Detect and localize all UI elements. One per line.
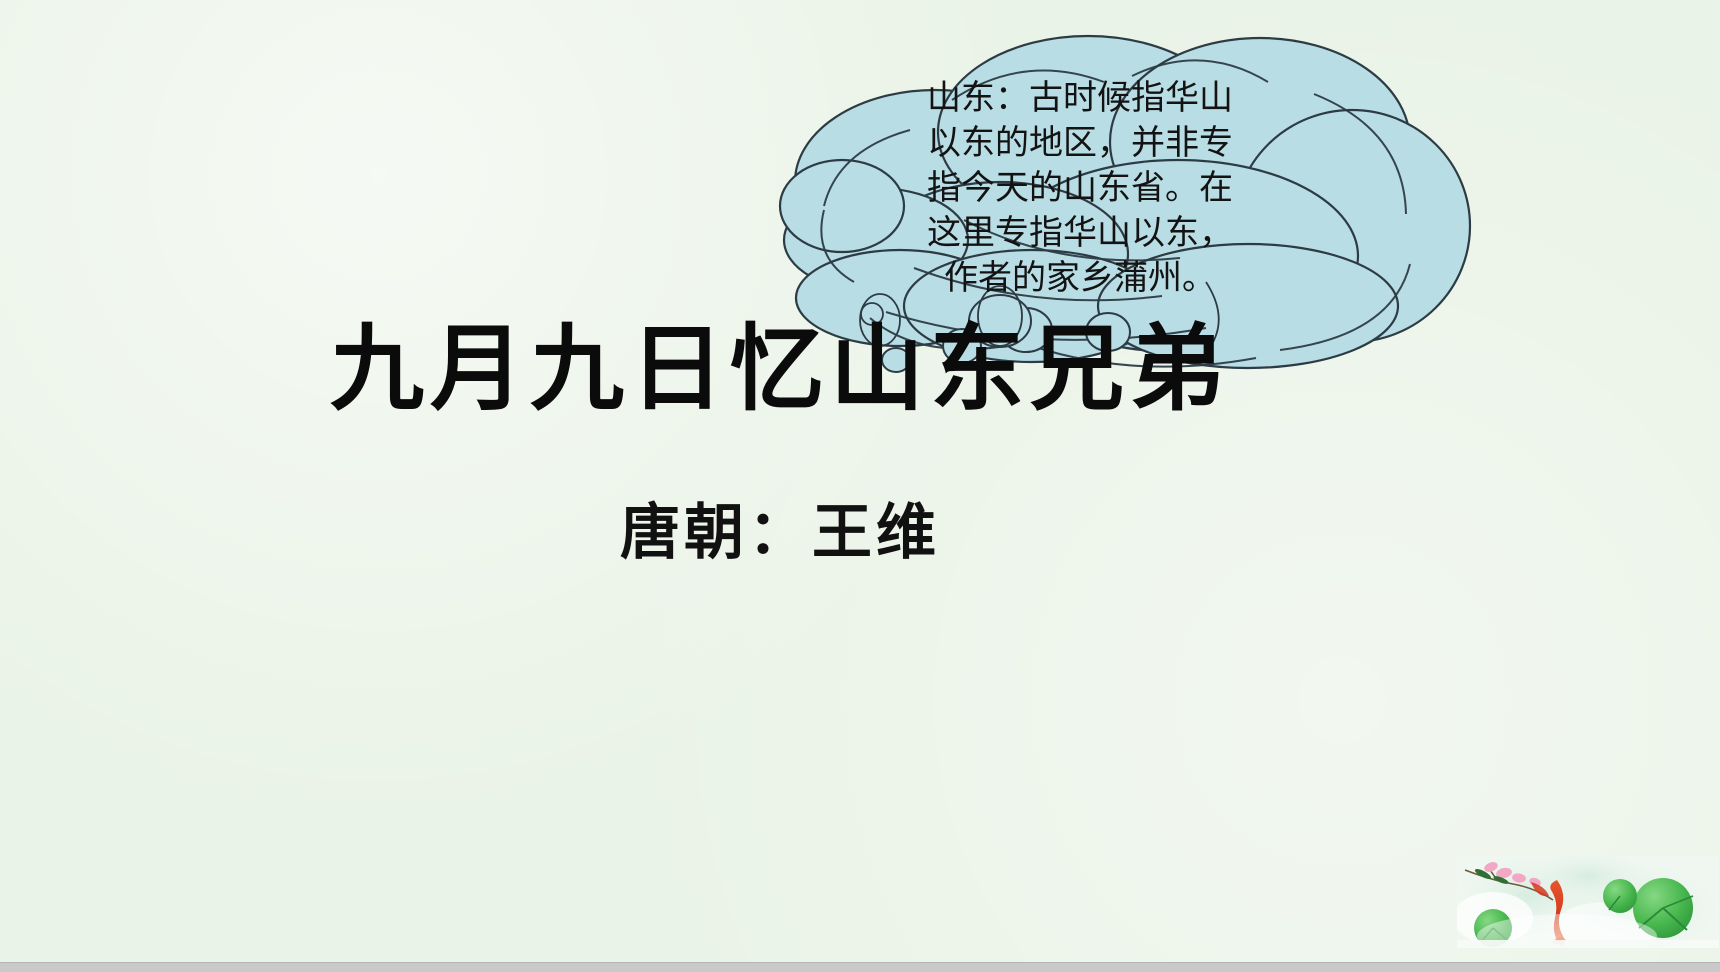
thought-bubble-text: 山东：古时候指华山 以东的地区，并非专 指今天的山东省。在 这里专指华山以东， … [860,76,1300,301]
poem-author: 唐朝：王维 [0,498,1560,568]
corner-decoration-image [1457,856,1719,948]
slide-canvas: 山东：古时候指华山 以东的地区，并非专 指今天的山东省。在 这里专指华山以东， … [0,0,1720,972]
lotus-koi-blossom-icon [1457,856,1719,948]
thought-bubble: 山东：古时候指华山 以东的地区，并非专 指今天的山东省。在 这里专指华山以东， … [700,14,1470,364]
page-title: 九月九日忆山东兄弟 [0,318,1560,422]
bottom-bar [0,962,1720,972]
